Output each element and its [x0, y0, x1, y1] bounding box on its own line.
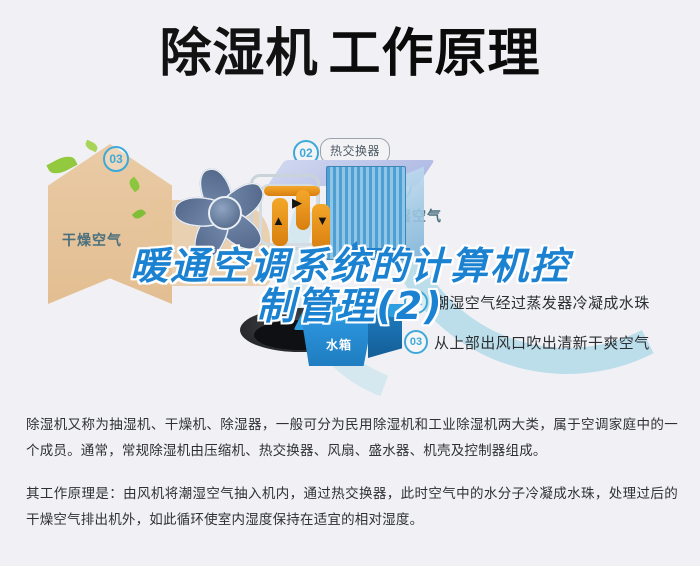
fan-icon	[172, 160, 284, 264]
steps-list: 02 潮湿空气经过蒸发器冷凝成水珠 03 从上部出风口吹出清新干爽空气	[404, 290, 696, 370]
page-title: 除湿机工作原理	[0, 28, 700, 80]
page-root: 除湿机工作原理 03 干燥空气 02 热交换器 01 潮湿空气 ▶ ▲	[0, 0, 700, 566]
evaporator-fins-icon	[326, 166, 406, 260]
list-item: 03 从上部出风口吹出清新干爽空气	[404, 330, 696, 354]
badge-03: 03	[103, 146, 129, 172]
body-copy: 除湿机又称为抽湿机、干燥机、除湿器，一般可分为民用除湿机和工业除湿机两大类，属于…	[26, 412, 678, 549]
leaf-icon	[84, 140, 99, 153]
step-text-02: 潮湿空气经过蒸发器冷凝成水珠	[434, 292, 650, 313]
page-title-part1: 除湿机	[159, 24, 318, 84]
dry-air-label: 干燥空气	[62, 230, 122, 250]
fan-hub-icon	[208, 196, 242, 230]
page-title-part2: 工作原理	[329, 24, 541, 84]
step-badge-02: 02	[404, 290, 428, 314]
intake-arrow-icon	[356, 248, 410, 258]
step-text-03: 从上部出风口吹出清新干爽空气	[434, 332, 650, 353]
water-tank-icon: 水箱	[300, 304, 404, 366]
flow-arrow-right-icon: ▶	[292, 196, 302, 209]
water-tank-side-icon	[368, 314, 402, 358]
paragraph-1: 除湿机又称为抽湿机、干燥机、除湿器，一般可分为民用除湿机和工业除湿机两大类，属于…	[26, 412, 678, 465]
paragraph-2: 其工作原理是：由风机将潮湿空气抽入机内，通过热交换器，此时空气中的水分子冷凝成水…	[26, 481, 678, 534]
dehumidifier-diagram: 03 干燥空气 02 热交换器 01 潮湿空气 ▶ ▲ ▼	[0, 122, 700, 400]
water-tank-label: 水箱	[326, 336, 352, 353]
list-item: 02 潮湿空气经过蒸发器冷凝成水珠	[404, 290, 696, 314]
flow-arrow-down-icon: ▼	[316, 214, 329, 227]
step-badge-03: 03	[404, 330, 428, 354]
